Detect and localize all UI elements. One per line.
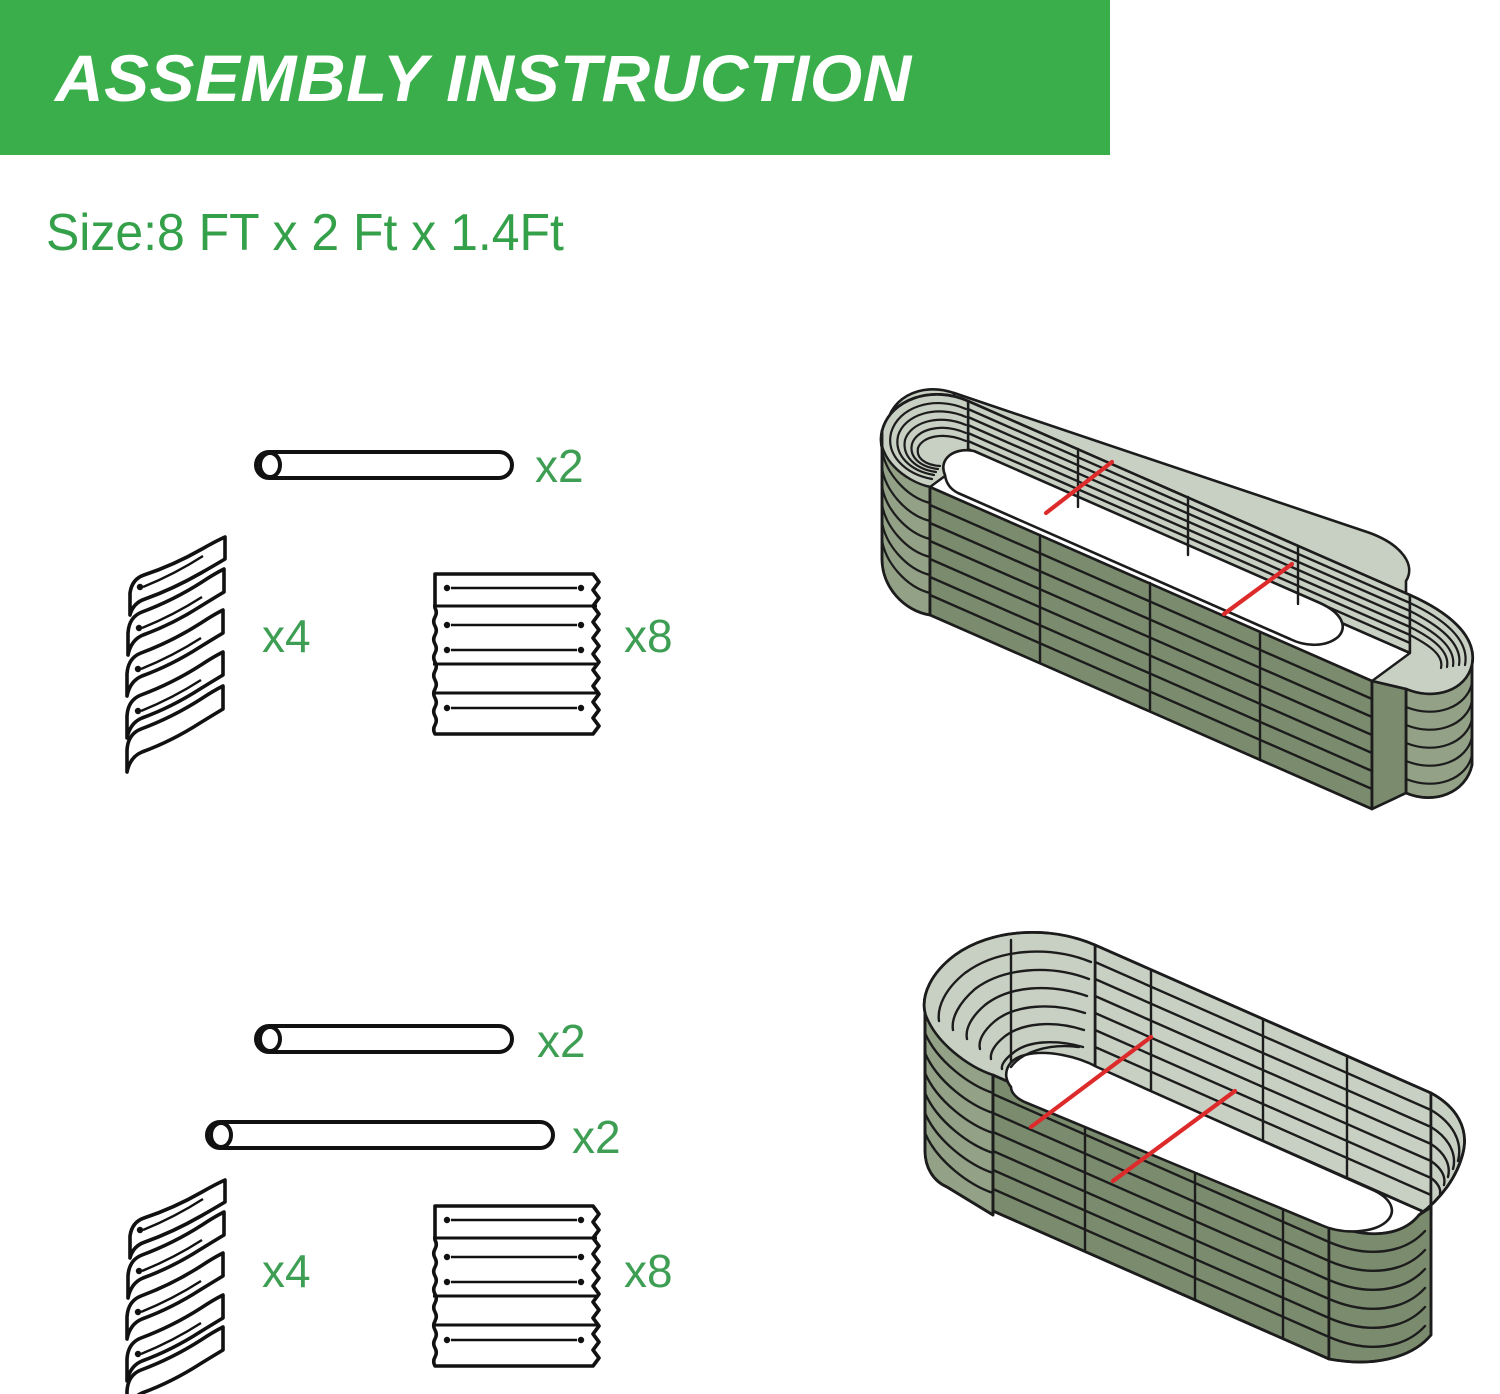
- hole-icon: [578, 1217, 584, 1223]
- parts-group-bottom: x2 x2: [0, 0, 750, 1389]
- hole-icon: [578, 1337, 584, 1343]
- hole-icon: [444, 1337, 450, 1343]
- hole-icon: [137, 1227, 143, 1233]
- oval-raised-bed-model: [850, 335, 1500, 885]
- part-curved-corner-panel: [118, 1192, 248, 1392]
- part-support-rod-long: [206, 1118, 556, 1152]
- hole-icon: [578, 1279, 584, 1285]
- hole-icon: [444, 1217, 450, 1223]
- curved-panel-icon: [118, 1192, 248, 1392]
- qty-curved-corner-panel: x4: [262, 1248, 311, 1294]
- qty-support-rod-long: x2: [572, 1114, 621, 1160]
- hole-icon: [578, 1254, 584, 1260]
- part-support-rod-short: [255, 1022, 515, 1056]
- rectangular-raised-bed-model: [835, 915, 1500, 1394]
- hole-icon: [135, 1309, 141, 1315]
- hole-icon: [444, 1279, 450, 1285]
- hole-icon: [135, 1351, 141, 1357]
- qty-straight-side-panel: x8: [624, 1248, 673, 1294]
- rod-icon: [255, 1022, 515, 1056]
- oval-bed-illustration: [850, 335, 1500, 880]
- rod-icon: [206, 1118, 556, 1152]
- qty-support-rod-short: x2: [537, 1018, 586, 1064]
- straight-panel-icon: [425, 1200, 605, 1358]
- part-straight-side-panel: [425, 1200, 605, 1358]
- hole-icon: [136, 1268, 142, 1274]
- hole-icon: [444, 1254, 450, 1260]
- rect-bed-illustration: [835, 915, 1500, 1389]
